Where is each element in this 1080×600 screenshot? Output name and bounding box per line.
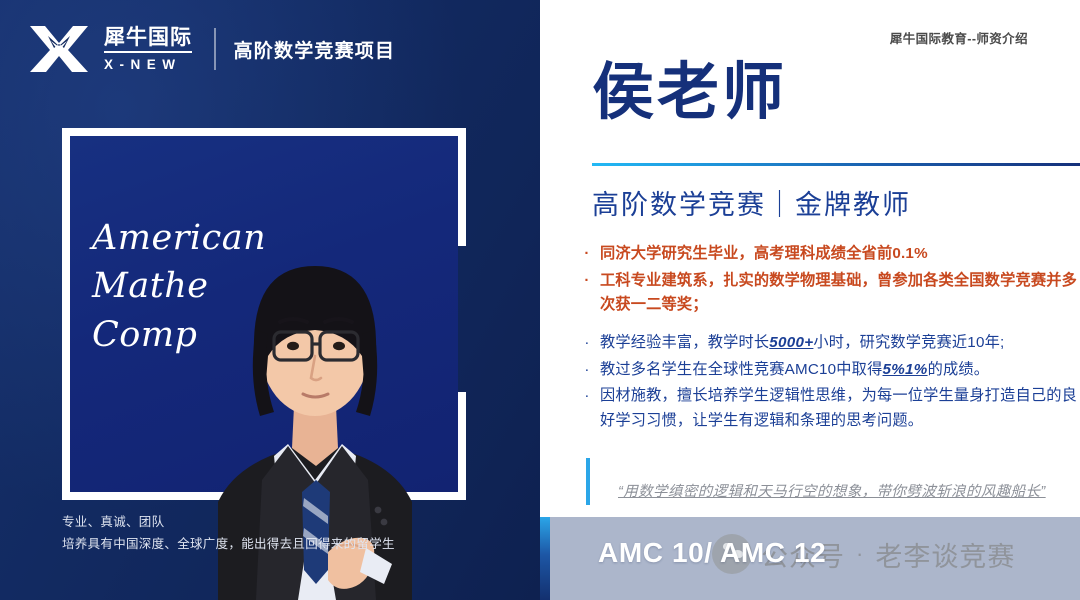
frame-edge-top bbox=[62, 128, 466, 136]
bullet-dot-icon: · bbox=[574, 242, 600, 266]
frame-edge-left bbox=[62, 128, 70, 500]
text-run: 教学经验丰富，教学时长 bbox=[600, 334, 769, 351]
left-panel: 犀牛国际 X-NEW 高阶数学竞赛项目 American Mathe Comp bbox=[0, 0, 540, 600]
text-run: 同济大学研究生毕业，高考理科成绩全省前0.1% bbox=[600, 245, 928, 262]
text-run: 工科专业建筑系，扎实的数学物理基础，曾参加各类全国数学竞赛并多次获一二等奖； bbox=[600, 272, 1077, 314]
text-run: 的成绩。 bbox=[928, 361, 990, 378]
list-item: ·教过多名学生在全球性竞赛AMC10中取得5%1%的成绩。 bbox=[574, 358, 1080, 383]
footnote-line-1: 专业、真诚、团队 bbox=[62, 512, 395, 534]
highlight-value: 5000+ bbox=[769, 334, 813, 351]
right-panel: 犀牛国际教育--师资介绍 侯老师 高阶数学竞赛｜金牌教师 ·同济大学研究生毕业，… bbox=[540, 0, 1080, 600]
list-item: ·教学经验丰富，教学时长5000+小时，研究数学竞赛近10年; bbox=[574, 331, 1080, 356]
left-footnote: 专业、真诚、团队 培养具有中国深度、全球广度，能出得去且回得来的留学生 bbox=[62, 512, 395, 556]
list-item-text: 同济大学研究生毕业，高考理科成绩全省前0.1% bbox=[600, 242, 1080, 267]
bottom-bar-accent-tab bbox=[540, 517, 550, 600]
list-spacer bbox=[574, 320, 1080, 331]
list-item: ·工科专业建筑系，扎实的数学物理基础，曾参加各类全国数学竞赛并多次获一二等奖； bbox=[574, 269, 1080, 318]
quote-text: “用数学缜密的逻辑和天马行空的想象，带你劈波斩浪的风趣船长” bbox=[590, 458, 1078, 505]
logo-divider bbox=[214, 28, 216, 70]
list-item-text: 教过多名学生在全球性竞赛AMC10中取得5%1%的成绩。 bbox=[600, 358, 1080, 383]
bullet-dot-icon: · bbox=[574, 331, 600, 355]
page-title: 侯老师 bbox=[592, 62, 787, 124]
brand-name-en: X-NEW bbox=[104, 58, 192, 72]
text-run: 因材施教，擅长培养学生逻辑性思维，为每一位学生量身打造自己的良好学习习惯，让学生… bbox=[600, 387, 1077, 429]
list-item-text: 工科专业建筑系，扎实的数学物理基础，曾参加各类全国数学竞赛并多次获一二等奖； bbox=[600, 269, 1080, 318]
brand-tagline: 高阶数学竞赛项目 bbox=[234, 36, 396, 63]
x-rhino-logo-icon bbox=[28, 22, 90, 76]
bullet-dot-icon: · bbox=[574, 384, 600, 408]
brand-logo-block: 犀牛国际 X-NEW 高阶数学竞赛项目 bbox=[28, 22, 395, 76]
bullet-dot-icon: · bbox=[574, 269, 600, 293]
list-item-text: 教学经验丰富，教学时长5000+小时，研究数学竞赛近10年; bbox=[600, 331, 1080, 356]
footnote-line-2: 培养具有中国深度、全球广度，能出得去且回得来的留学生 bbox=[62, 534, 395, 556]
list-item-text: 因材施教，擅长培养学生逻辑性思维，为每一位学生量身打造自己的良好学习习惯，让学生… bbox=[600, 384, 1080, 433]
title-accent-rule bbox=[592, 163, 1080, 166]
slide-root: 犀牛国际 X-NEW 高阶数学竞赛项目 American Mathe Comp bbox=[0, 0, 1080, 600]
bottom-bar-title: AMC 10/ AMC 12 bbox=[598, 537, 826, 569]
text-run: 小时，研究数学竞赛近10年; bbox=[813, 334, 1004, 351]
page-header-label: 犀牛国际教育--师资介绍 bbox=[890, 28, 1028, 47]
watermark-name: 老李谈竞赛 bbox=[875, 535, 1015, 574]
page-subtitle: 高阶数学竞赛｜金牌教师 bbox=[592, 183, 911, 222]
brand-name-cn: 犀牛国际 bbox=[104, 27, 192, 53]
watermark-separator: · bbox=[854, 543, 866, 565]
list-item: ·同济大学研究生毕业，高考理科成绩全省前0.1% bbox=[574, 242, 1080, 267]
text-run: 教过多名学生在全球性竞赛AMC10中取得 bbox=[600, 361, 882, 378]
credentials-list: ·同济大学研究生毕业，高考理科成绩全省前0.1%·工科专业建筑系，扎实的数学物理… bbox=[574, 242, 1080, 435]
highlight-value: 5%1% bbox=[882, 361, 927, 378]
pull-quote: “用数学缜密的逻辑和天马行空的想象，带你劈波斩浪的风趣船长” bbox=[586, 458, 1078, 505]
brand-wordmark: 犀牛国际 X-NEW bbox=[104, 27, 192, 72]
list-item: ·因材施教，擅长培养学生逻辑性思维，为每一位学生量身打造自己的良好学习习惯，让学… bbox=[574, 384, 1080, 433]
bullet-dot-icon: · bbox=[574, 358, 600, 382]
